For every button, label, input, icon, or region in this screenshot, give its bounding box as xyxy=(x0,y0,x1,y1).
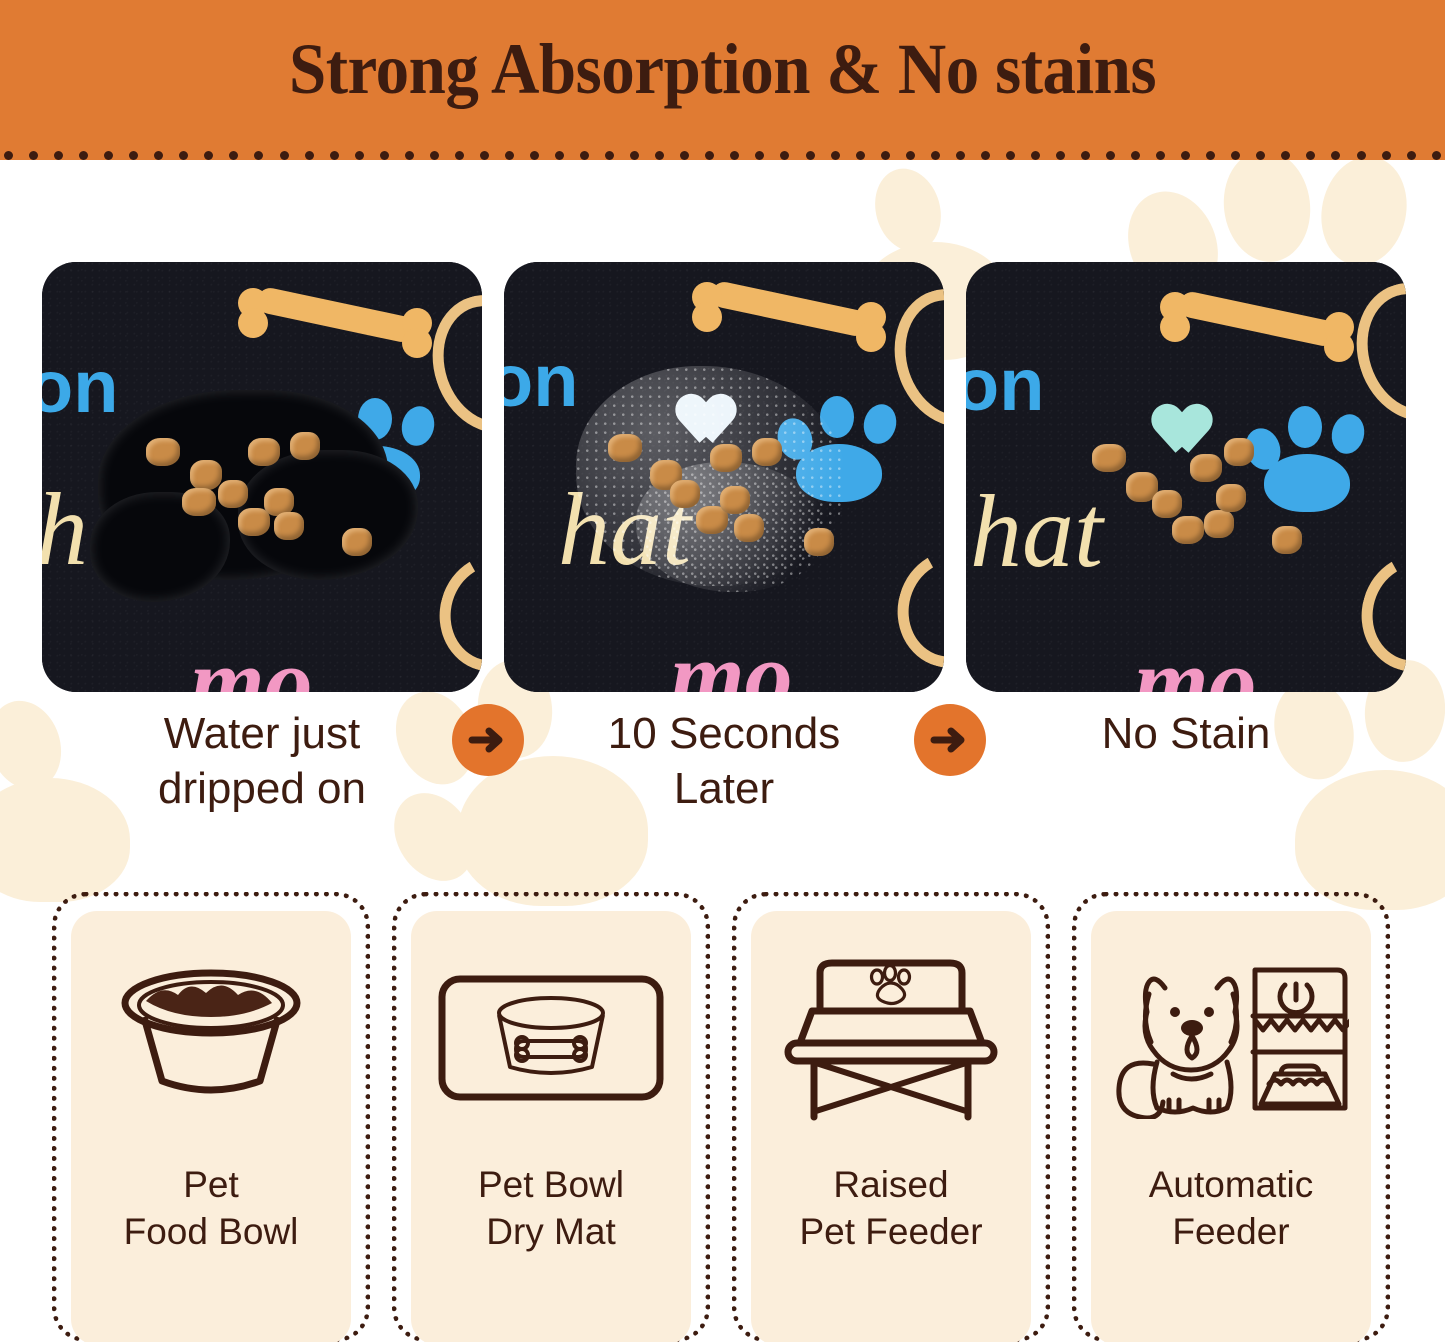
kibble-piece xyxy=(274,512,304,540)
header-dot xyxy=(655,151,664,160)
header-dot xyxy=(680,151,689,160)
header-dot xyxy=(780,151,789,160)
header-dot xyxy=(705,151,714,160)
automatic-feeder-icon xyxy=(1091,911,1371,1161)
header-dot xyxy=(580,151,589,160)
header-dot xyxy=(204,151,213,160)
header-dot xyxy=(154,151,163,160)
header-banner: Strong Absorption & No stains xyxy=(0,0,1445,160)
kibble-piece xyxy=(1190,454,1222,482)
kibble-piece xyxy=(238,508,270,536)
infographic-page: Strong Absorption & No stains on hat mo xyxy=(0,0,1445,1342)
header-dot xyxy=(530,151,539,160)
header-dot xyxy=(1206,151,1215,160)
header-dot xyxy=(1231,151,1240,160)
use-case-card-pet-bowl-dry-mat: Pet Bowl Dry Mat xyxy=(392,892,710,1342)
header-dot xyxy=(881,151,890,160)
heart-print-icon xyxy=(1156,400,1210,450)
header-dot xyxy=(1432,151,1441,160)
caption-no-stain: No Stain xyxy=(966,706,1406,761)
kibble-piece xyxy=(190,460,222,490)
caption-ten-seconds: 10 Seconds Later xyxy=(504,706,944,817)
header-dot xyxy=(179,151,188,160)
header-dotted-divider xyxy=(0,148,1445,162)
header-dot xyxy=(1306,151,1315,160)
kibble-piece xyxy=(1216,484,1246,512)
header-dot xyxy=(806,151,815,160)
demo-photo-water-dripped: on hat mo xyxy=(42,262,482,692)
use-case-label: Automatic Feeder xyxy=(1149,1161,1314,1256)
kibble-piece xyxy=(608,434,642,462)
bone-print-icon xyxy=(684,280,894,336)
header-dot xyxy=(981,151,990,160)
kibble-piece xyxy=(290,432,320,460)
bone-print-icon xyxy=(1152,290,1362,346)
use-case-label: Raised Pet Feeder xyxy=(799,1161,982,1256)
use-case-label: Pet Food Bowl xyxy=(124,1161,299,1256)
header-dot xyxy=(79,151,88,160)
header-dot xyxy=(104,151,113,160)
absorption-demo-row: on hat mo xyxy=(0,262,1445,692)
header-dot xyxy=(4,151,13,160)
header-dot xyxy=(1056,151,1065,160)
header-dot xyxy=(305,151,314,160)
demo-captions: Water just dripped on 10 Seconds Later N… xyxy=(0,706,1445,836)
kibble-piece xyxy=(1204,510,1234,538)
header-dot xyxy=(730,151,739,160)
header-dot xyxy=(555,151,564,160)
kibble-piece xyxy=(1224,438,1254,466)
kibble-piece xyxy=(752,438,782,466)
header-dot xyxy=(1006,151,1015,160)
kibble-piece xyxy=(342,528,372,556)
mat-text-pink: mo xyxy=(670,628,793,692)
header-dot xyxy=(956,151,965,160)
header-dot xyxy=(755,151,764,160)
header-dot xyxy=(630,151,639,160)
header-dot xyxy=(1031,151,1040,160)
header-dot xyxy=(1106,151,1115,160)
caption-water-dripped: Water just dripped on xyxy=(42,706,482,817)
kibble-piece xyxy=(248,438,280,466)
header-dot xyxy=(254,151,263,160)
mat-text-pink: mo xyxy=(1134,634,1257,692)
header-dot xyxy=(330,151,339,160)
header-dot xyxy=(1382,151,1391,160)
header-dot xyxy=(1407,151,1416,160)
raised-pet-feeder-icon xyxy=(751,911,1031,1161)
header-dot xyxy=(831,151,840,160)
pet-food-bowl-icon xyxy=(71,911,351,1161)
header-dot xyxy=(1181,151,1190,160)
demo-photo-ten-seconds: on hat mo xyxy=(504,262,944,692)
header-dot xyxy=(505,151,514,160)
kibble-piece xyxy=(710,444,742,472)
header-dot xyxy=(54,151,63,160)
kibble-piece xyxy=(146,438,180,466)
header-dot xyxy=(455,151,464,160)
kibble-piece xyxy=(734,514,764,542)
header-dot xyxy=(1281,151,1290,160)
header-dot xyxy=(380,151,389,160)
header-dot xyxy=(605,151,614,160)
use-case-card-raised-pet-feeder: Raised Pet Feeder xyxy=(732,892,1050,1342)
mat-text-blue: on xyxy=(504,344,578,418)
header-dot xyxy=(405,151,414,160)
use-case-card-pet-food-bowl: Pet Food Bowl xyxy=(52,892,370,1342)
header-dot xyxy=(1081,151,1090,160)
kibble-piece xyxy=(1172,516,1204,544)
mat-text-pink: mo xyxy=(190,634,313,692)
header-dot xyxy=(430,151,439,160)
header-dot xyxy=(280,151,289,160)
kibble-piece xyxy=(182,488,216,516)
header-dot xyxy=(856,151,865,160)
mat-text-blue: on xyxy=(966,348,1044,422)
bone-print-icon xyxy=(230,286,440,342)
demo-photo-no-stain: on hat mo xyxy=(966,262,1406,692)
header-dot xyxy=(906,151,915,160)
header-dot xyxy=(29,151,38,160)
kibble-piece xyxy=(804,528,834,556)
header-dot xyxy=(480,151,489,160)
kibble-piece xyxy=(1152,490,1182,518)
pet-bowl-dry-mat-icon xyxy=(411,911,691,1161)
header-dot xyxy=(1131,151,1140,160)
mat-text-blue: on xyxy=(42,350,118,424)
header-dot xyxy=(1256,151,1265,160)
header-dot xyxy=(1156,151,1165,160)
kibble-piece xyxy=(720,486,750,514)
kibble-piece xyxy=(1092,444,1126,472)
paw-print-icon xyxy=(1244,406,1374,516)
header-dot xyxy=(1331,151,1340,160)
header-dot xyxy=(1357,151,1366,160)
use-case-cards: Pet Food Bowl Pet xyxy=(0,892,1445,1342)
kibble-piece xyxy=(1272,526,1302,554)
use-case-label: Pet Bowl Dry Mat xyxy=(478,1161,624,1256)
header-dot xyxy=(355,151,364,160)
header-dot xyxy=(229,151,238,160)
use-case-card-automatic-feeder: Automatic Feeder xyxy=(1072,892,1390,1342)
header-dot xyxy=(129,151,138,160)
page-title: Strong Absorption & No stains xyxy=(51,28,1395,111)
header-dot xyxy=(931,151,940,160)
kibble-piece xyxy=(218,480,248,508)
kibble-piece xyxy=(670,480,700,508)
mat-text-cream: hat xyxy=(970,480,1103,584)
